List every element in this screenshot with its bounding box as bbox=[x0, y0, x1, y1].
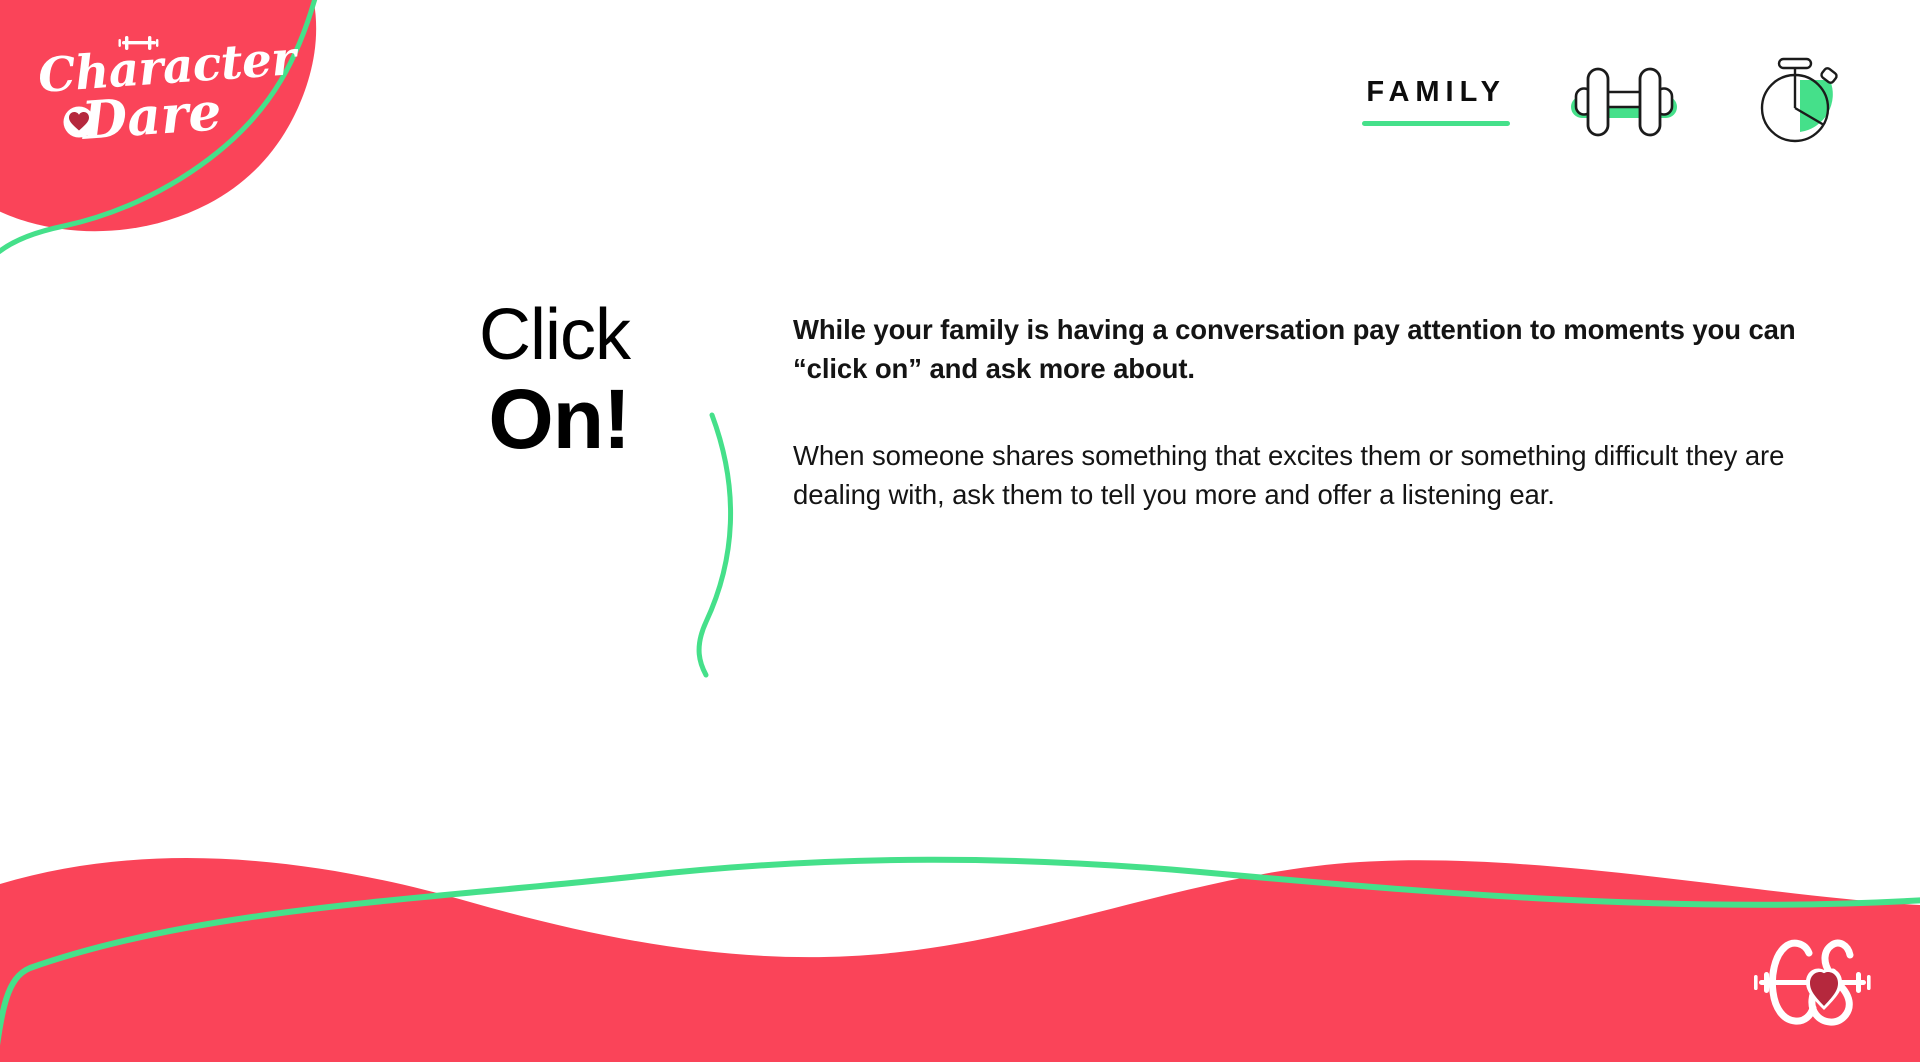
logo-script-dare: Dare bbox=[80, 81, 223, 152]
cs-monogram-logo[interactable] bbox=[1745, 930, 1880, 1040]
dare-headline: While your family is having a conversati… bbox=[793, 310, 1853, 388]
dumbbell-icon[interactable] bbox=[1564, 56, 1684, 148]
character-dare-logo[interactable]: Character Dare bbox=[30, 18, 290, 158]
background-decorations bbox=[0, 0, 1920, 1062]
stopwatch-icon[interactable] bbox=[1738, 56, 1858, 148]
dare-title: Click On! bbox=[460, 300, 630, 461]
tab-family[interactable]: FAMILY bbox=[1362, 78, 1510, 126]
tab-family-label: FAMILY bbox=[1362, 78, 1510, 121]
dare-paragraph: When someone shares something that excit… bbox=[793, 436, 1853, 514]
tab-family-underline bbox=[1362, 121, 1510, 126]
slide-canvas: Character Dare FAMILY bbox=[0, 0, 1920, 1062]
bottom-green-wave-line bbox=[0, 860, 1920, 1062]
header-right-group: FAMILY bbox=[1362, 56, 1858, 148]
dare-title-line-2: On! bbox=[460, 377, 630, 461]
green-curve-divider bbox=[0, 0, 1920, 1062]
bottom-red-wave bbox=[0, 858, 1920, 1062]
dare-title-line-1: Click bbox=[460, 300, 630, 371]
body-copy: While your family is having a conversati… bbox=[793, 310, 1853, 514]
